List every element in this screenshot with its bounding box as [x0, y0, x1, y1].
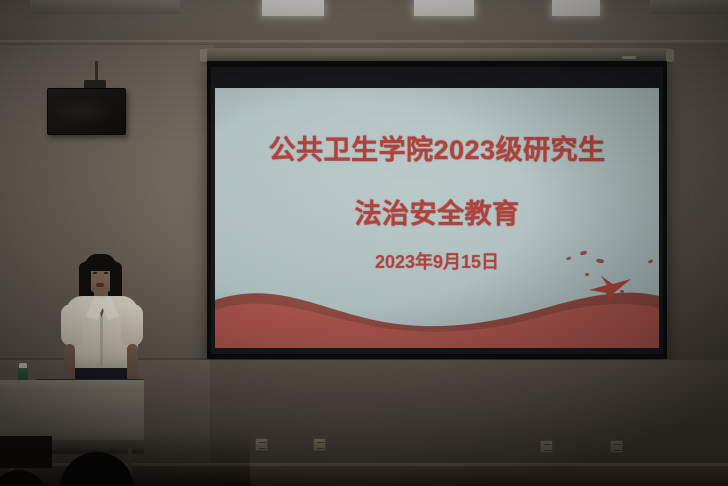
roller-cap-left [200, 49, 207, 62]
wall-outlet[interactable] [610, 440, 623, 453]
presenter-sleeve-left [61, 304, 83, 346]
presenter-sleeve-right [121, 304, 143, 346]
ceiling-light [414, 0, 474, 16]
ceiling-edge [0, 40, 728, 45]
roller-cap-right [666, 49, 674, 62]
wall-outlet[interactable] [255, 438, 268, 451]
wall-outlet[interactable] [313, 438, 326, 451]
audience-chair-back [0, 436, 52, 468]
wall-outlet[interactable] [540, 440, 553, 453]
slide-title-line-1: 公共卫生学院2023级研究生 [215, 128, 659, 167]
lecture-room-photo: 公共卫生学院2023级研究生 法治安全教育 2023年9月15日 [0, 0, 728, 486]
ceiling-vent [650, 0, 728, 14]
ceiling-light [262, 0, 324, 16]
presenter-shirt-placket [100, 316, 103, 366]
decorative-speck [620, 290, 625, 294]
screen-roller-casing [203, 48, 671, 62]
ceiling-light [552, 0, 600, 16]
wall-speaker [47, 88, 126, 135]
presenter-mouth [96, 283, 104, 287]
roller-control-button[interactable] [622, 56, 636, 59]
presenter-arm-left [64, 344, 75, 376]
presenter-eye-left [93, 272, 97, 274]
bottle-cap [19, 363, 27, 368]
ceiling-vent [30, 0, 180, 14]
presenter-arm-right [127, 344, 138, 382]
presenter-eye-right [104, 272, 108, 274]
presentation-slide: 公共卫生学院2023级研究生 法治安全教育 2023年9月15日 [215, 88, 659, 348]
slide-date: 2023年9月15日 [215, 248, 659, 274]
slide-title-line-2: 法治安全教育 [215, 192, 659, 231]
